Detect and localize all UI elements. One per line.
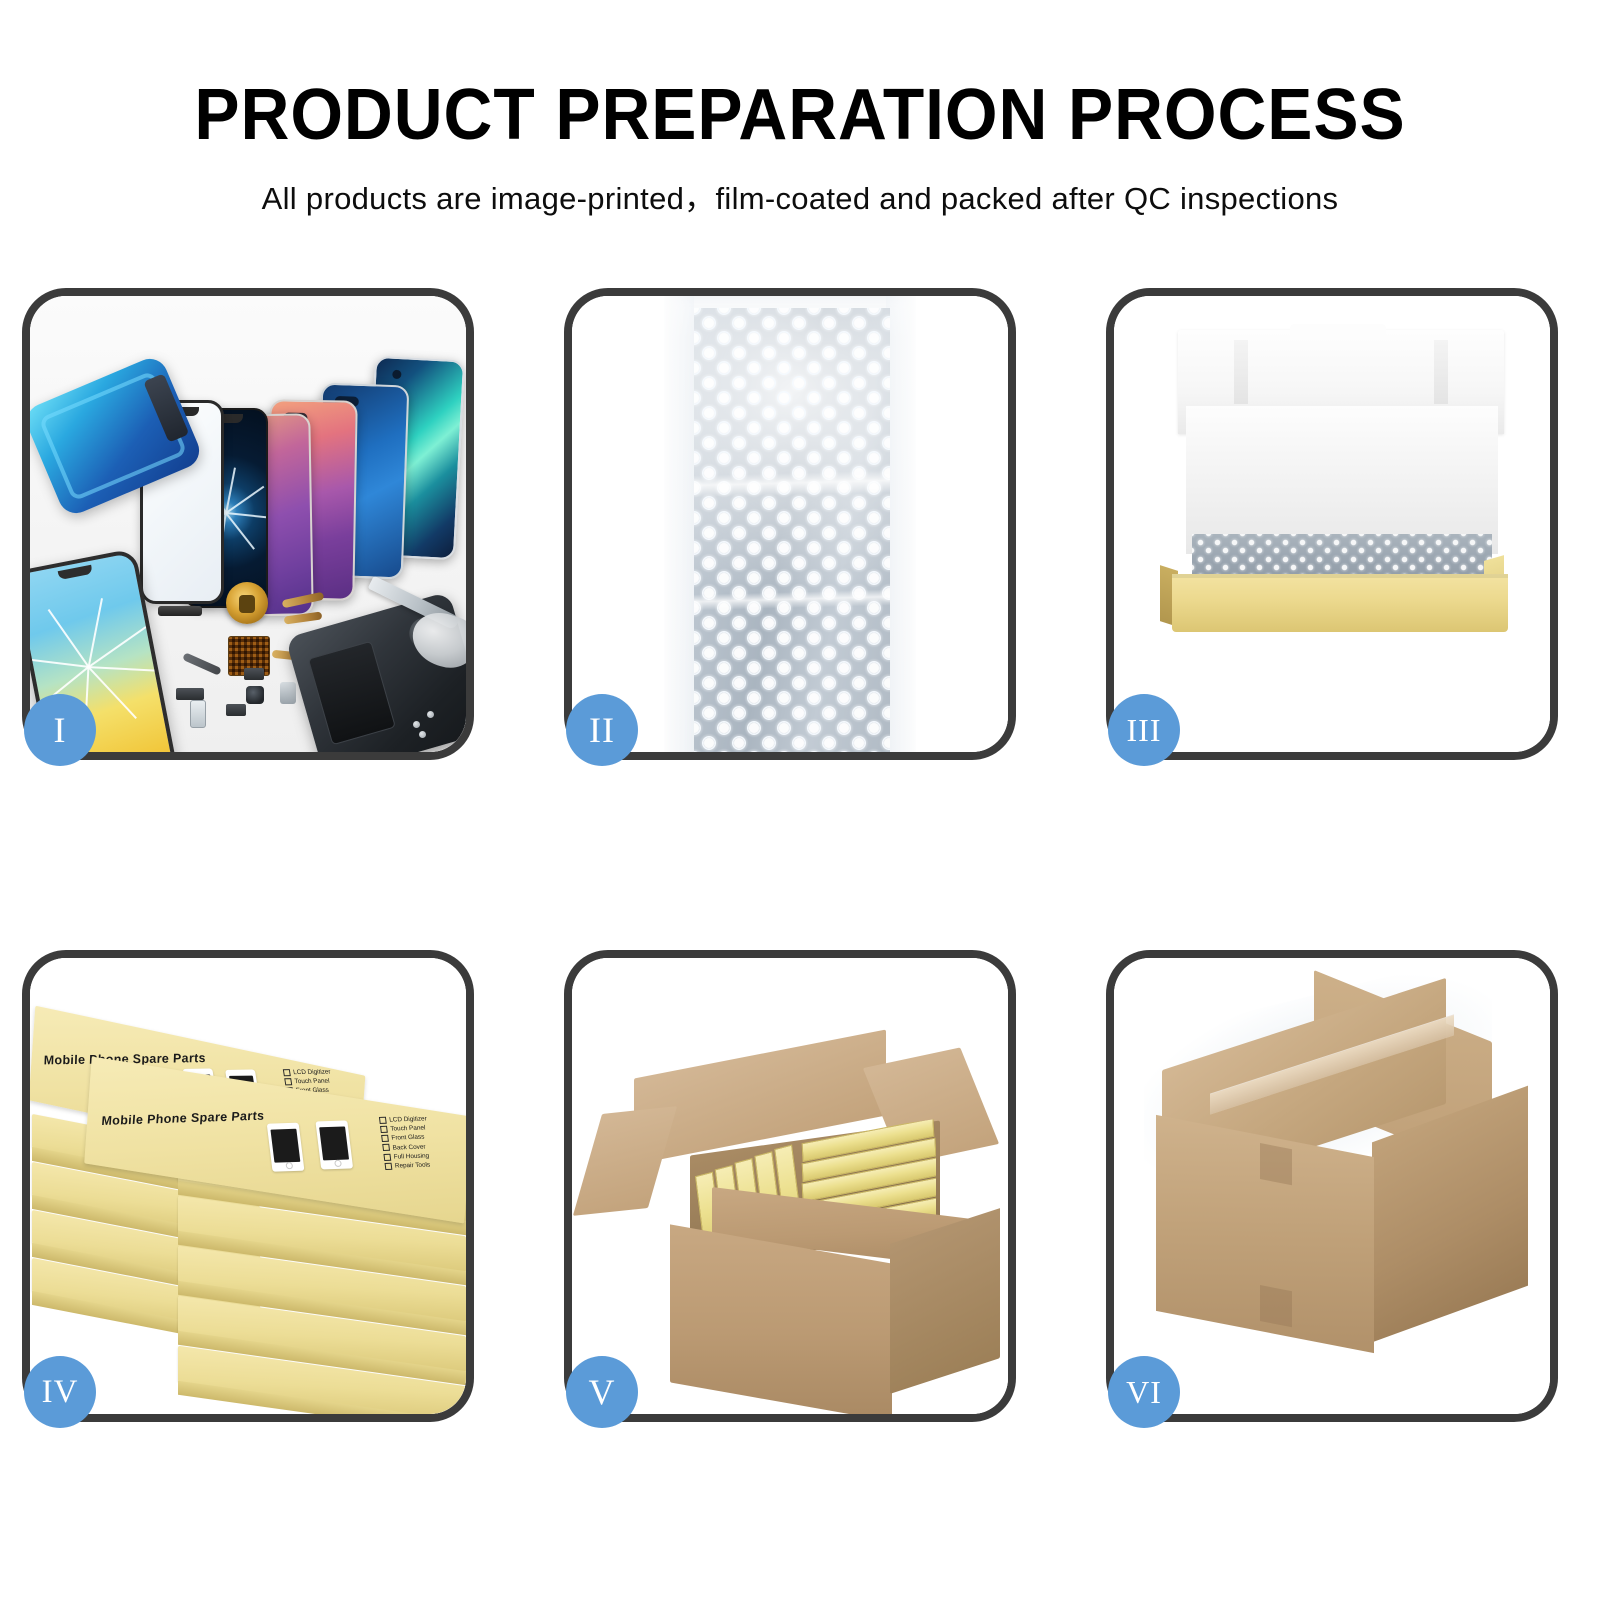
step-panel-5[interactable]: V <box>564 950 1016 1422</box>
page-title: PRODUCT PREPARATION PROCESS <box>48 0 1552 153</box>
step-badge-6: VI <box>1108 1356 1180 1428</box>
page-subtitle: All products are image-printed，film-coat… <box>0 153 1600 218</box>
step-badge-5: V <box>566 1356 638 1428</box>
lid-ear <box>1434 340 1448 404</box>
phone-parts-scene <box>30 296 466 752</box>
earpiece-speaker-part <box>158 606 202 616</box>
camera-module-part <box>246 686 264 704</box>
carton-flap-left <box>573 1106 677 1216</box>
step-image-5 <box>572 958 1008 1414</box>
retail-box-brand-label: Mobile Phone Spare Parts <box>101 1109 266 1128</box>
connector-part <box>244 668 264 680</box>
bubble-rim-texture <box>694 308 890 752</box>
lid-ear <box>1234 340 1248 404</box>
connector-part <box>176 688 204 700</box>
step-image-4: Mobile Phone Spare Parts LCD Digitizer T… <box>30 958 466 1414</box>
process-step-grid: I II <box>22 288 1578 1422</box>
step-panel-2[interactable]: II <box>564 288 1016 760</box>
step-image-3 <box>1114 296 1550 752</box>
carton-seam-tab <box>1260 1285 1292 1327</box>
step-badge-2: II <box>566 694 638 766</box>
screw-part <box>413 721 420 728</box>
step-image-6 <box>1114 958 1550 1414</box>
mailer-box-back-wall <box>1186 406 1498 554</box>
sealed-carton-scene <box>1114 958 1550 1414</box>
bubble-wrap-sheet <box>664 296 916 752</box>
step-image-1 <box>30 296 466 752</box>
wrapped-product <box>694 308 890 752</box>
checklist-item: Repair Tools <box>384 1160 433 1171</box>
screw-part <box>427 711 434 718</box>
vibration-motor-part <box>280 682 296 704</box>
notch-icon <box>58 565 93 580</box>
step-panel-6[interactable]: VI <box>1106 950 1558 1422</box>
step-panel-3[interactable]: III <box>1106 288 1558 760</box>
retail-box-phone-image <box>267 1123 305 1172</box>
camera-hole-icon <box>392 370 401 379</box>
sim-tray-part <box>190 700 206 728</box>
carton-front-wall <box>1156 1115 1374 1353</box>
connector-part <box>226 704 246 716</box>
carton-filling-scene <box>572 958 1008 1414</box>
retail-box-phone-image <box>315 1120 353 1169</box>
step-panel-1[interactable]: I <box>22 288 474 760</box>
step-image-2 <box>572 296 1008 752</box>
screw-part <box>419 731 426 738</box>
wrap-edge <box>886 296 916 752</box>
step-badge-3: III <box>1108 694 1180 766</box>
retail-box-stack-scene: Mobile Phone Spare Parts LCD Digitizer T… <box>30 958 466 1414</box>
step-badge-1: I <box>24 694 96 766</box>
wireless-charging-coil-part <box>226 582 268 624</box>
carton-seam-tab <box>1260 1143 1292 1185</box>
page-header: PRODUCT PREPARATION PROCESS All products… <box>0 0 1600 218</box>
retail-box-checklist: LCD Digitizer Touch Panel Front Glass Ba… <box>379 1114 433 1171</box>
flex-cable-part <box>182 652 222 676</box>
bubble-wrap-scene <box>572 296 1008 752</box>
step-badge-4: IV <box>24 1356 96 1428</box>
step-panel-4[interactable]: Mobile Phone Spare Parts LCD Digitizer T… <box>22 950 474 1422</box>
wrap-edge <box>664 296 694 752</box>
mailer-box-front-wall <box>1172 574 1508 632</box>
mailer-box-scene <box>1114 296 1550 752</box>
